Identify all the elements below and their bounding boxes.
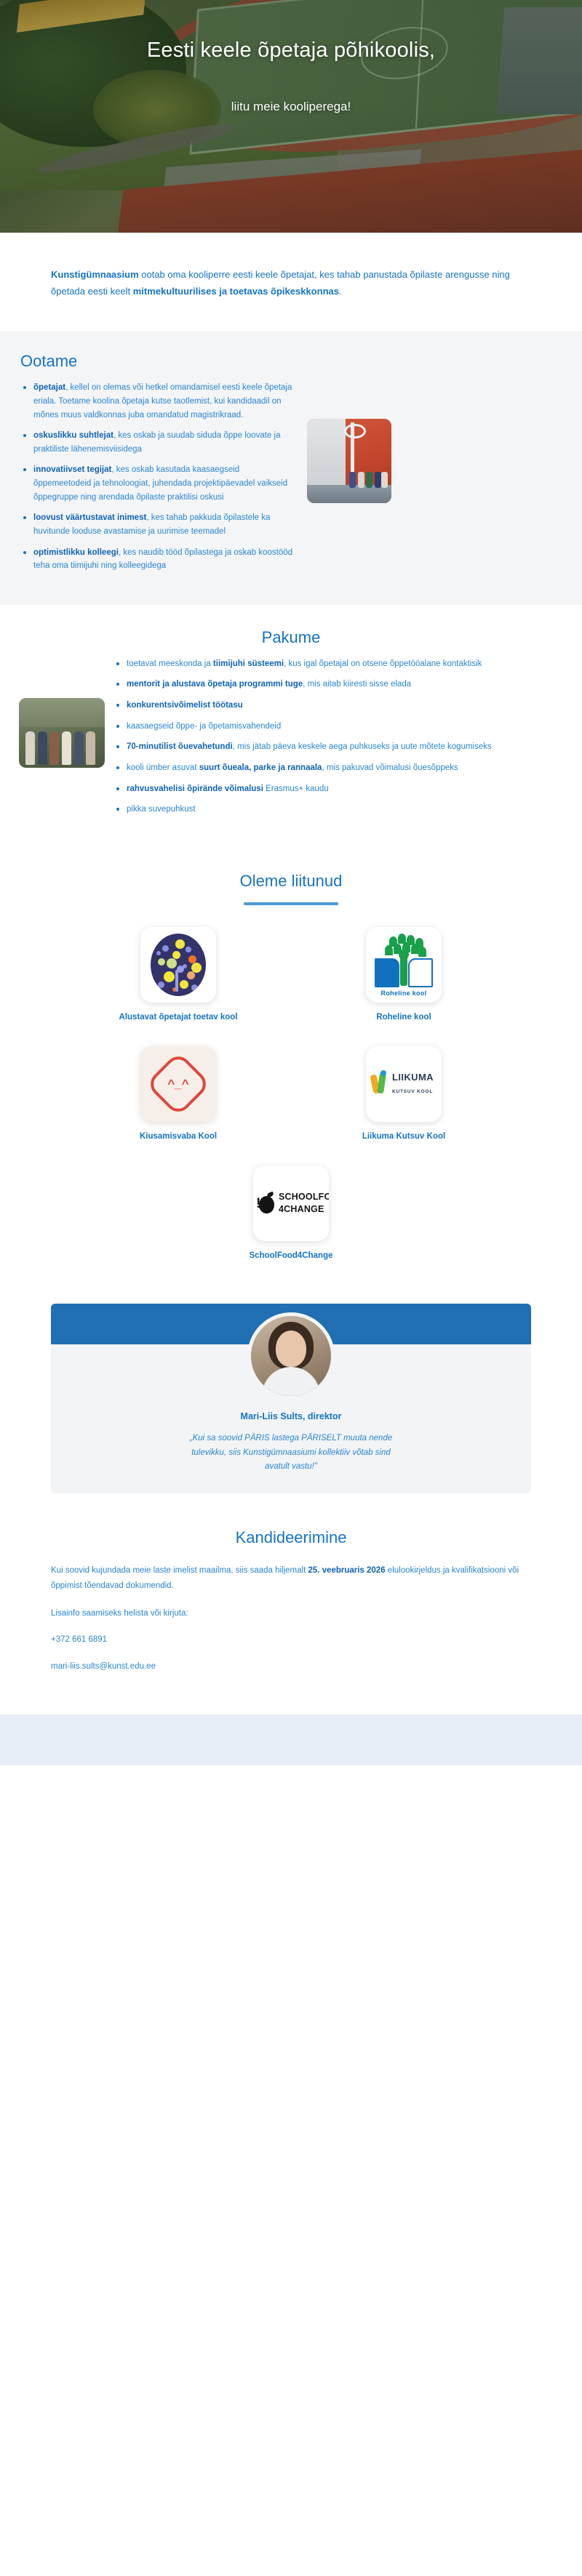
intro-text-3: .: [339, 286, 342, 297]
liitunud-section: Oleme liitunud: [0, 850, 582, 1279]
list-item-pre: pikka suvepuhkust: [127, 805, 196, 814]
logo-grid: Alustavat õpetajat toetav kool: [0, 927, 582, 1260]
logo-text: Roheline kool: [370, 990, 437, 997]
ootame-list: õpetajat, kellel on olemas või hetkel om…: [20, 381, 297, 580]
list-item-pre: kooli ümber asuvat: [127, 763, 199, 772]
pakume-heading: Pakume: [0, 628, 582, 657]
list-item: mentorit ja alustava õpetaja programmi t…: [113, 678, 563, 691]
list-item: toetavat meeskonda ja tiimijuhi süsteemi…: [113, 657, 563, 671]
list-item: konkurentsivõimelist töötasu: [113, 699, 563, 713]
list-item-bold: optimistlikku kolleegi: [33, 548, 119, 557]
list-item: innovatiivset tegijat, kes oskab kasutad…: [20, 463, 297, 504]
logo-item-liikuma-kutsuv-kool[interactable]: LIIKUMA KUTSUV KOOL Liikuma Kutsuv Kool: [291, 1046, 517, 1141]
pakume-photo: [19, 698, 105, 768]
footer-band: [0, 1714, 582, 1765]
list-item-text: , kus igal õpetajal on otsene õppetööala…: [284, 659, 482, 668]
list-item: optimistlikku kolleegi, kes naudib tööd …: [20, 546, 297, 573]
ootame-photo: [307, 419, 391, 503]
kandideerimine-section: Kandideerimine Kui soovid kujundada meie…: [0, 1506, 582, 1714]
list-item-text: , kellel on olemas või hetkel omandamise…: [33, 383, 292, 419]
avatar: [247, 1312, 335, 1400]
list-item-bold: rahvusvahelisi õpirände võimalusi: [127, 785, 263, 793]
roheline-kool-icon: Roheline kool: [370, 934, 437, 996]
kiusamisvaba-kool-icon: ^_^: [155, 1061, 202, 1107]
list-item-bold: 70-minutilist õuevahetundi: [127, 742, 233, 751]
logo-item-roheline-kool[interactable]: Roheline kool Roheline kool: [291, 927, 517, 1022]
logo-text-primary: LIIKUMA: [392, 1072, 434, 1083]
testimonial-name: Mari-Liis Sults, direktor: [51, 1411, 531, 1421]
list-item-bold: loovust väärtustavat inimest: [33, 513, 146, 522]
list-item: loovust väärtustavat inimest, kes tahab …: [20, 511, 297, 538]
intro-bold-2: mitmekultuurilises ja toetavas õpikeskko…: [133, 286, 339, 297]
logo-caption: Alustavat õpetajat toetav kool: [119, 1013, 238, 1022]
logo-caption: Roheline kool: [376, 1013, 431, 1022]
intro-lead-bold: Kunstigümnaasium: [51, 269, 139, 280]
list-item-pre: kaasaegseid õppe- ja õpetamisvahendeid: [127, 722, 281, 731]
list-item-text: Erasmus+ kaudu: [263, 785, 329, 793]
intro-paragraph: Kunstigümnaasium ootab oma kooliperre ee…: [51, 266, 531, 300]
testimonial-section: Mari-Liis Sults, direktor „Kui sa soovid…: [0, 1279, 582, 1506]
list-item-text: , mis aitab kiiresti sisse elada: [303, 680, 411, 689]
list-item-bold: innovatiivset tegijat: [33, 465, 111, 474]
logo-item-alustavat-opetajat-toetav-kool[interactable]: Alustavat õpetajat toetav kool: [65, 927, 291, 1022]
hero-section: Eesti keele õpetaja põhikoolis, liitu me…: [0, 0, 582, 233]
list-item-pre: toetavat meeskonda ja: [127, 659, 213, 668]
pakume-list: toetavat meeskonda ja tiimijuhi süsteemi…: [113, 657, 563, 824]
schoolfood4change-icon: ! SCHOOLFOOD 4CHANGE: [256, 1186, 326, 1221]
logo-item-schoolfood4change[interactable]: ! SCHOOLFOOD 4CHANGE SchoolFood4Change: [65, 1165, 517, 1260]
logo-caption: Kiusamisvaba Kool: [140, 1132, 217, 1141]
ootame-heading: Ootame: [0, 352, 582, 381]
logo-caption: Liikuma Kutsuv Kool: [362, 1132, 445, 1141]
contact-intro: Lisainfo saamiseks helista või kirjuta:: [51, 1606, 531, 1621]
apply-text-pre: Kui soovid kujundada meie laste imelist …: [51, 1566, 308, 1575]
list-item-bold: õpetajat: [33, 383, 65, 392]
list-item: pikka suvepuhkust: [113, 803, 563, 816]
list-item: rahvusvahelisi õpirände võimalusi Erasmu…: [113, 782, 563, 796]
section-divider: [244, 902, 338, 905]
logo-item-kiusamisvaba-kool[interactable]: ^_^ Kiusamisvaba Kool: [65, 1046, 291, 1141]
hero-title: Eesti keele õpetaja põhikoolis,: [147, 38, 435, 63]
contact-phone[interactable]: +372 661 6891: [51, 1632, 531, 1647]
kandideerimine-heading: Kandideerimine: [51, 1528, 531, 1547]
list-item-text: , mis pakuvad võimalusi õuesõppeks: [322, 763, 458, 772]
list-item: 70-minutilist õuevahetundi, mis jätab pä…: [113, 740, 563, 754]
contact-email[interactable]: mari-liis.sults@kunst.edu.ee: [51, 1659, 531, 1674]
logo-text-primary: SCHOOLFOOD: [279, 1192, 329, 1202]
list-item: kaasaegseid õppe- ja õpetamisvahendeid: [113, 720, 563, 734]
logo-text-secondary: 4CHANGE: [279, 1204, 324, 1214]
list-item: õpetajat, kellel on olemas või hetkel om…: [20, 381, 297, 422]
testimonial-quote: „Kui sa soovid PÄRIS lastega PÄRISELT mu…: [186, 1432, 396, 1474]
list-item-bold: mentorit ja alustava õpetaja programmi t…: [127, 680, 303, 689]
job-posting-page: Eesti keele õpetaja põhikoolis, liitu me…: [0, 0, 582, 1765]
list-item-bold: tiimijuhi süsteemi: [213, 659, 284, 668]
apply-deadline: 25. veebruaris 2026: [308, 1566, 385, 1575]
dandelion-icon: [151, 934, 206, 996]
list-item: kooli ümber asuvat suurt õueala, parke j…: [113, 761, 563, 775]
logo-text-secondary: KUTSUV KOOL: [392, 1089, 433, 1094]
list-item-bold: oskuslikku suhtlejat: [33, 431, 113, 440]
list-item-bold: konkurentsivõimelist töötasu: [127, 701, 243, 710]
logo-caption: SchoolFood4Change: [250, 1251, 333, 1260]
ootame-section: Ootame õpetajat, kellel on olemas või he…: [0, 332, 582, 605]
hero-subtitle: liitu meie kooliperega!: [231, 100, 351, 114]
list-item-bold: suurt õueala, parke ja rannaala: [199, 763, 322, 772]
list-item-text: , mis jätab päeva keskele aega puhkuseks…: [233, 742, 492, 751]
liitunud-heading: Oleme liitunud: [0, 872, 582, 891]
kandideerimine-paragraph: Kui soovid kujundada meie laste imelist …: [51, 1563, 531, 1593]
liikuma-kutsuv-kool-icon: LIIKUMA KUTSUV KOOL: [370, 1064, 437, 1104]
list-item: oskuslikku suhtlejat, kes oskab ja suuda…: [20, 429, 297, 456]
pakume-section: Pakume toetavat meeskonda ja tiimijuhi s…: [0, 605, 582, 850]
intro-section: Kunstigümnaasium ootab oma kooliperre ee…: [0, 233, 582, 332]
